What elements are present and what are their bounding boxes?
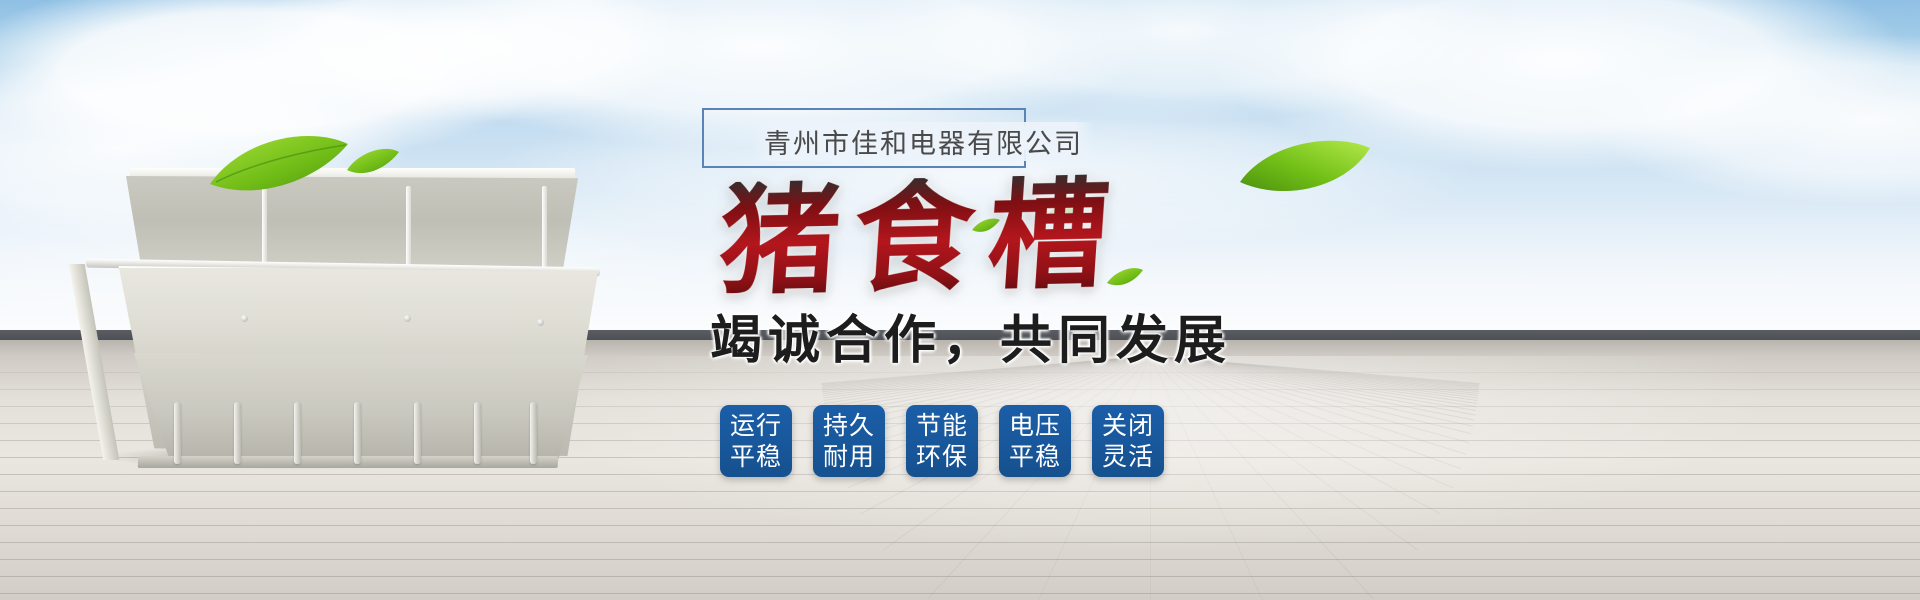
- trough-feed-bar: [294, 402, 301, 464]
- company-name: 青州市佳和电器有限公司: [752, 122, 1095, 161]
- leaf-decoration-left-small: [345, 148, 401, 178]
- feature-badge-line1: 持久: [823, 410, 875, 441]
- banner-copy: 青州市佳和电器有限公司 猪食槽 竭诚合作，共同发展 运行 平稳 持久 耐用 节能…: [690, 100, 1390, 560]
- feature-badge-line2: 环保: [916, 441, 968, 472]
- trough-base-rail: [138, 456, 559, 468]
- feature-badge-line1: 电压: [1009, 410, 1061, 441]
- leaf-decoration-left: [206, 132, 356, 202]
- trough-feed-bar: [354, 402, 361, 464]
- feature-badge-line1: 节能: [916, 410, 968, 441]
- feature-badge-list: 运行 平稳 持久 耐用 节能 环保 电压 平稳 关闭 灵活: [720, 405, 1164, 477]
- feature-badge[interactable]: 关闭 灵活: [1092, 405, 1164, 477]
- feature-badge-line2: 平稳: [730, 441, 782, 472]
- trough-rivet: [241, 315, 248, 322]
- feature-badge-line2: 耐用: [823, 441, 875, 472]
- trough-feed-bar: [530, 402, 537, 464]
- feature-badge-line1: 运行: [730, 410, 782, 441]
- trough-rivet: [537, 319, 544, 326]
- promo-banner: 青州市佳和电器有限公司 猪食槽 竭诚合作，共同发展 运行 平稳 持久 耐用 节能…: [0, 0, 1920, 600]
- feature-badge[interactable]: 持久 耐用: [813, 405, 885, 477]
- trough-feed-bar: [234, 402, 241, 464]
- feature-badge-line1: 关闭: [1102, 410, 1154, 441]
- slogan-subtitle: 竭诚合作，共同发展: [710, 315, 1232, 367]
- product-title: 猪食槽: [716, 174, 1127, 302]
- trough-feed-bar: [174, 402, 181, 464]
- product-photo-pig-feed-trough: [78, 168, 598, 468]
- trough-rivet: [404, 315, 411, 322]
- feature-badge-line2: 灵活: [1102, 441, 1154, 472]
- trough-feed-bar: [474, 402, 481, 464]
- feature-badge[interactable]: 节能 环保: [906, 405, 978, 477]
- feature-badge[interactable]: 电压 平稳: [999, 405, 1071, 477]
- trough-feed-bar: [414, 402, 421, 464]
- feature-badge-line2: 平稳: [1009, 441, 1061, 472]
- feature-badge[interactable]: 运行 平稳: [720, 405, 792, 477]
